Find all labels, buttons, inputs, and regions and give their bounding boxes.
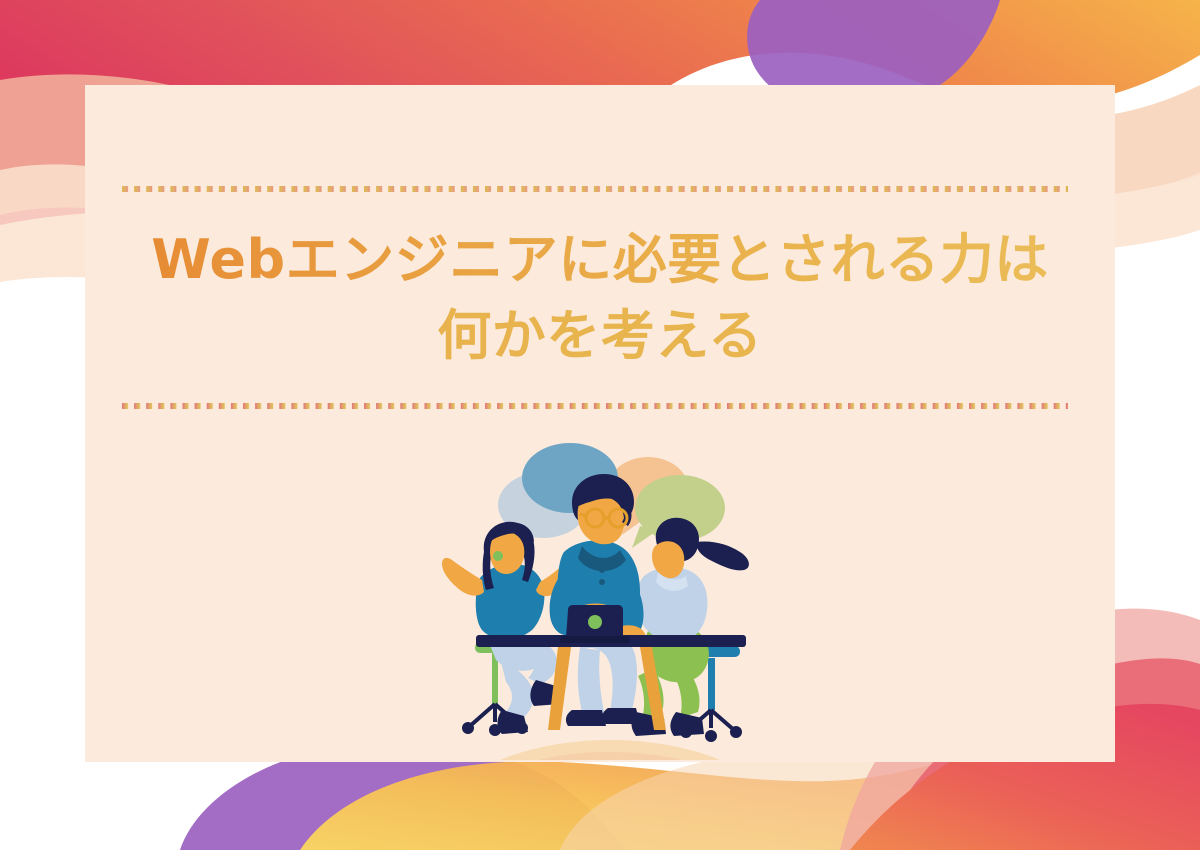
slide-canvas: Webエンジニアに必要とされる力は 何かを考える (0, 0, 1200, 850)
laptop-logo (588, 615, 602, 629)
wave-bottom-orange (300, 749, 1200, 850)
laptop-base (560, 636, 630, 643)
page-title-line-1: Webエンジニアに必要とされる力は (85, 222, 1115, 298)
chair-pole-right (708, 658, 715, 710)
laptop (560, 605, 630, 643)
shoe-center-1 (566, 710, 606, 726)
earring-left (493, 551, 503, 561)
arm-left-raised (442, 558, 484, 596)
torso-right (637, 567, 707, 642)
shoe-center-2 (602, 708, 640, 724)
floor-arc (440, 740, 780, 760)
team-discussion-illustration (440, 430, 780, 760)
page-title-line-2: 何かを考える (85, 298, 1115, 374)
boot-right-2 (670, 712, 704, 736)
dotted-rule-top (122, 186, 1068, 193)
dotted-rule-bottom (122, 403, 1068, 410)
ponytail-right (696, 541, 749, 570)
page-title: Webエンジニアに必要とされる力は 何かを考える (85, 222, 1115, 374)
